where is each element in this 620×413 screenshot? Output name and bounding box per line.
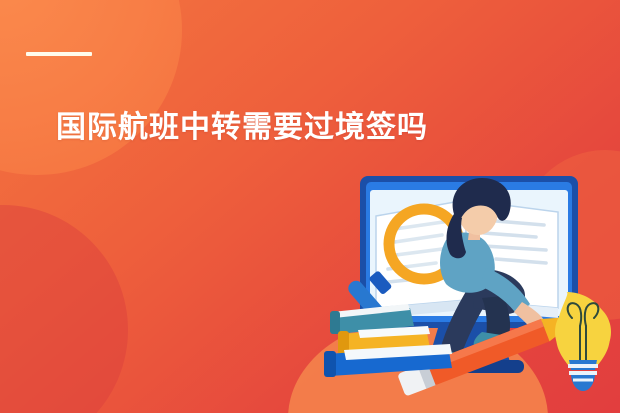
lightbulb-icon <box>555 292 611 391</box>
page-title: 国际航班中转需要过境签吗 <box>56 108 428 148</box>
promo-banner: 国际航班中转需要过境签吗 <box>0 0 620 413</box>
title-rule <box>26 52 92 56</box>
decorative-circle-top-left <box>0 0 182 175</box>
person-researching-on-monitor-illustration <box>318 168 620 413</box>
decorative-circle-bottom-left <box>0 205 128 413</box>
